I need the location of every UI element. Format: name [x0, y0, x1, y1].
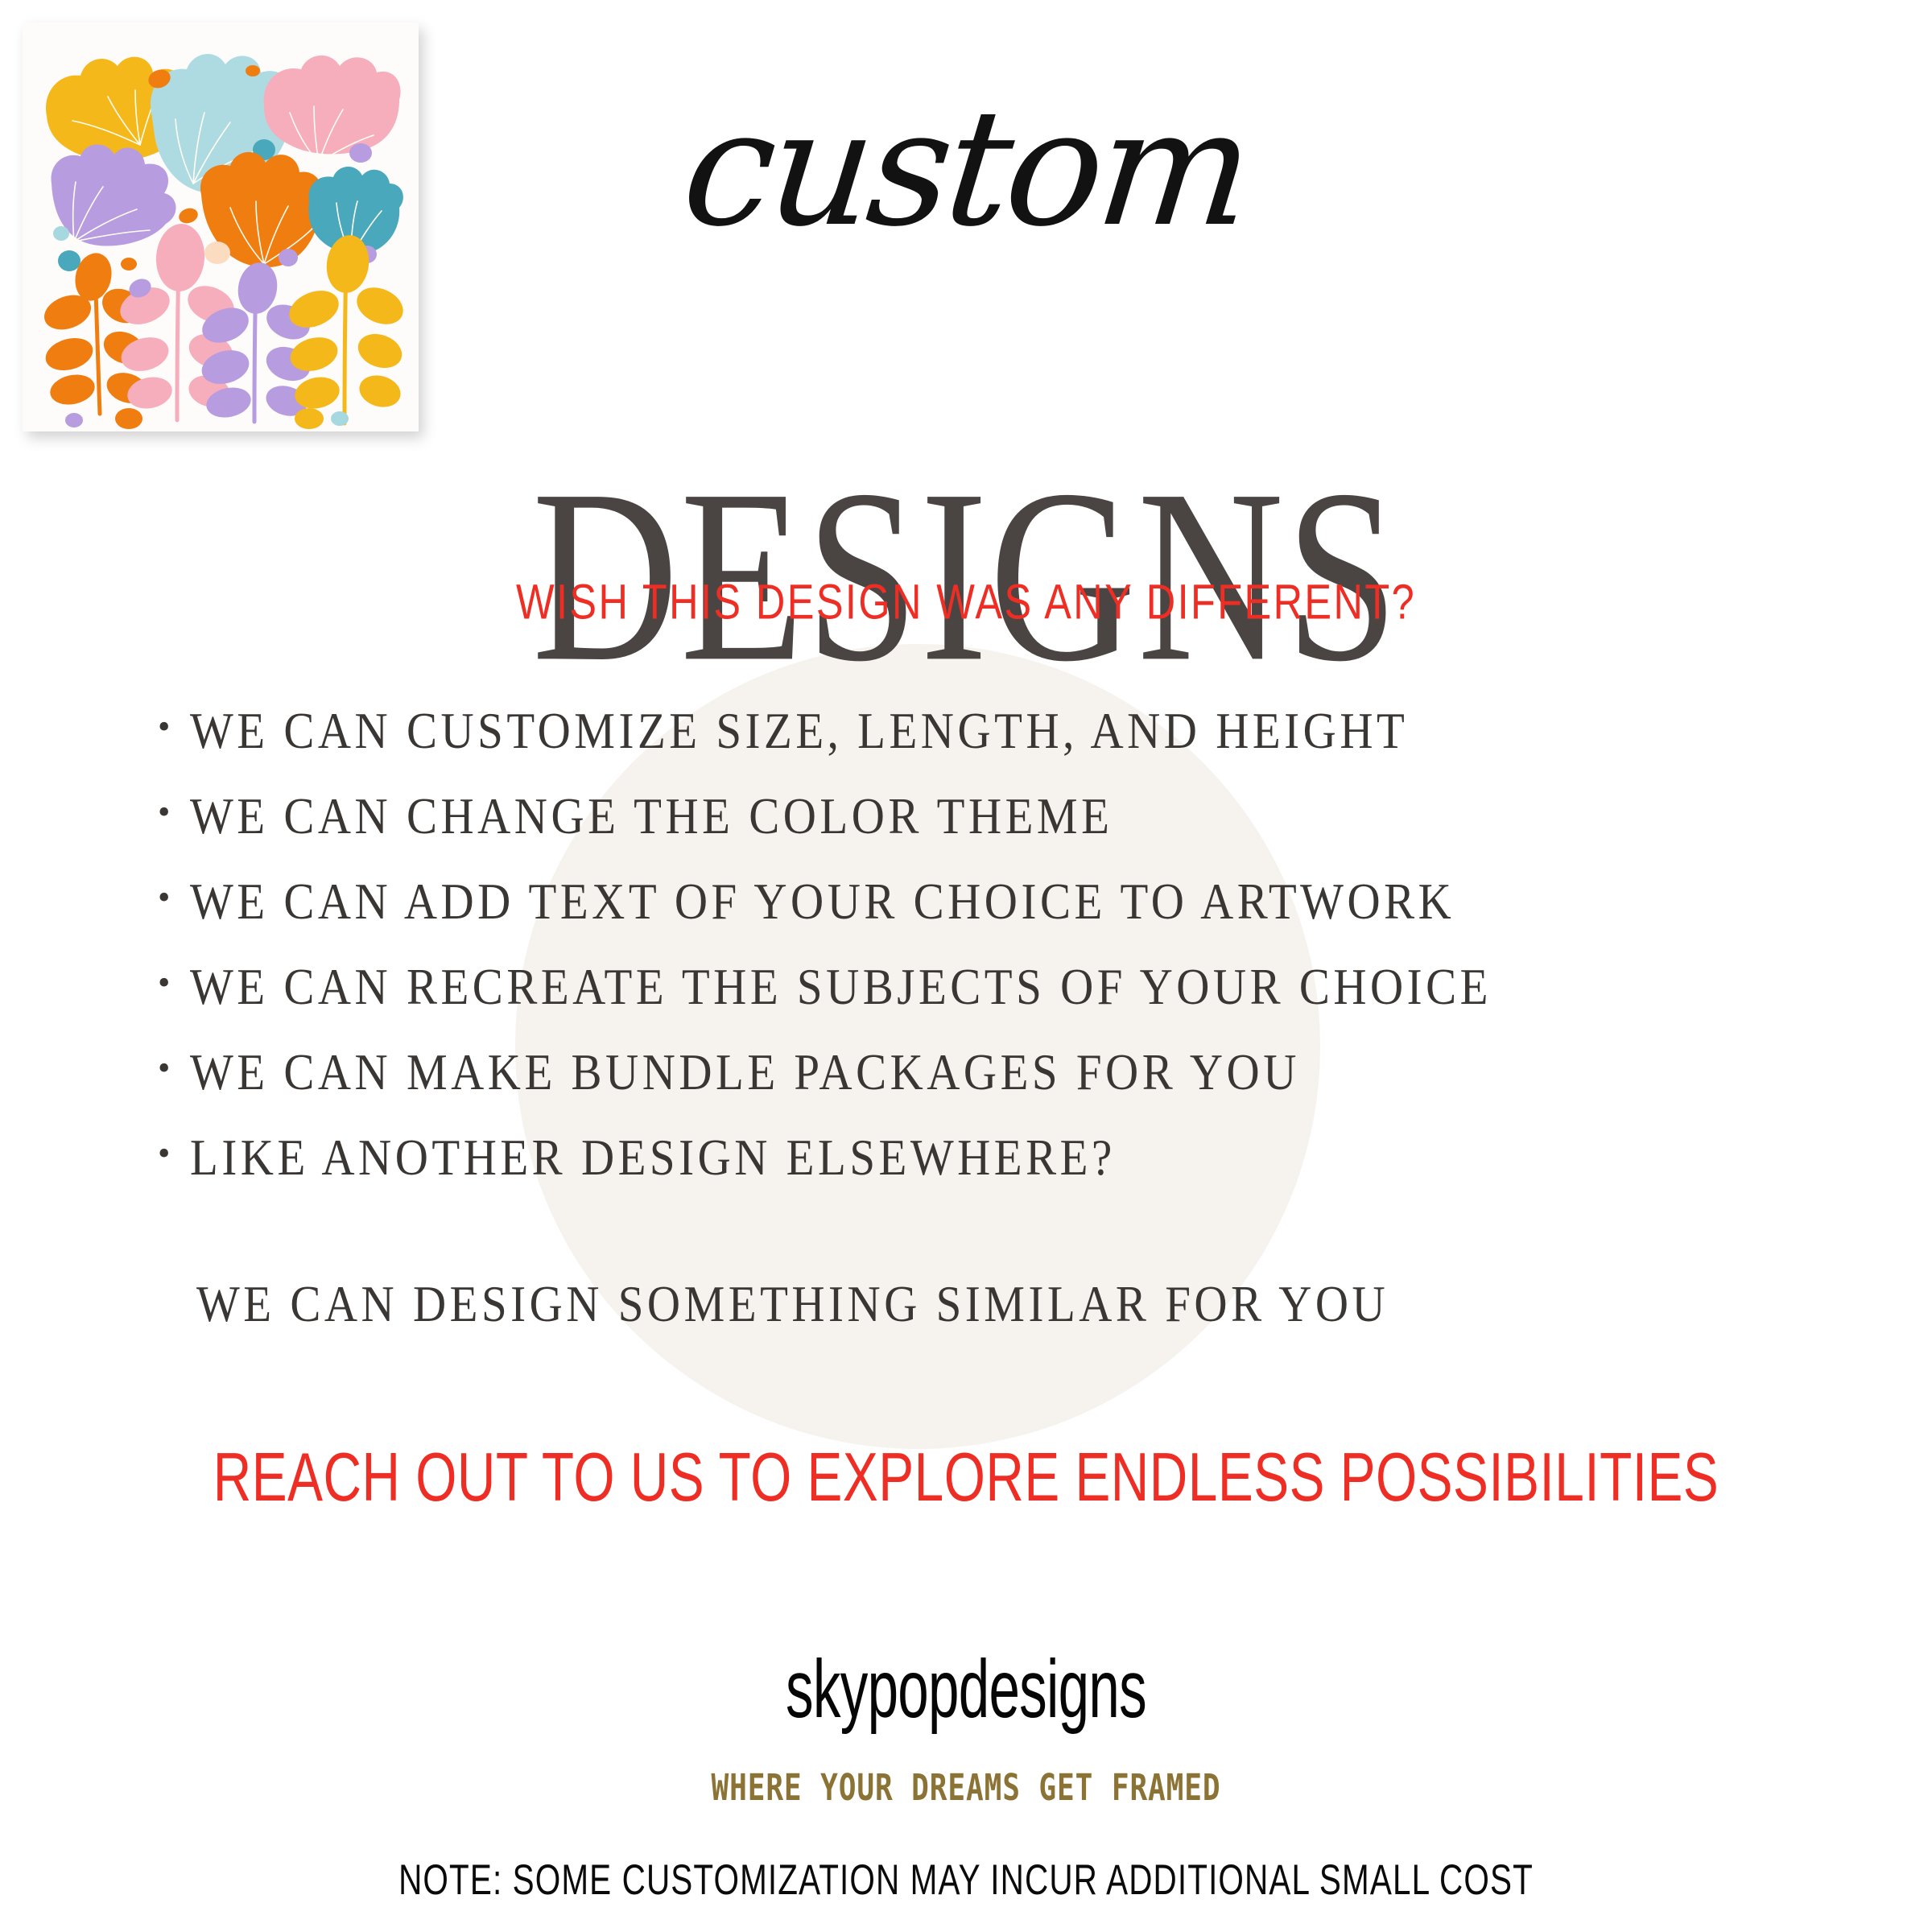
list-continuation-label: WE CAN DESIGN SOMETHING SIMILAR FOR YOU: [196, 1279, 1389, 1331]
bullet-dot-icon: •: [158, 880, 190, 915]
subtitle-question: WISH THIS DESIGN WAS ANY DIFFERENT?: [29, 578, 1903, 627]
list-item-label: WE CAN ADD TEXT OF YOUR CHOICE TO ARTWOR…: [190, 877, 1455, 928]
brand-logo-wordmark: skypopdesigns: [270, 1649, 1662, 1731]
footnote-note: NOTE: SOME CUSTOMIZATION MAY INCUR ADDIT…: [77, 1860, 1855, 1902]
call-to-action-text: REACH OUT TO US TO EXPLORE ENDLESS POSSI…: [58, 1443, 1874, 1511]
brand-tagline: WHERE YOUR DREAMS GET FRAMED: [135, 1769, 1797, 1806]
list-item-label: WE CAN MAKE BUNDLE PACKAGES FOR YOU: [190, 1047, 1300, 1099]
list-item-label: LIKE ANOTHER DESIGN ELSEWHERE?: [190, 1133, 1116, 1184]
bullet-dot-icon: •: [158, 709, 190, 745]
list-item-label: WE CAN CUSTOMIZE SIZE, LENGTH, AND HEIGH…: [190, 706, 1408, 758]
bullet-dot-icon: •: [158, 965, 190, 1001]
list-item-label: WE CAN RECREATE THE SUBJECTS OF YOUR CHO…: [190, 962, 1492, 1013]
feature-list: • WE CAN CUSTOMIZE SIZE, LENGTH, AND HEI…: [158, 708, 1816, 1220]
list-item: • WE CAN ADD TEXT OF YOUR CHOICE TO ARTW…: [158, 879, 1816, 964]
list-item-label: WE CAN CHANGE THE COLOR THEME: [190, 791, 1113, 843]
artwork-thumbnail: [23, 23, 419, 431]
bullet-dot-icon: •: [158, 1051, 190, 1086]
list-item: • WE CAN CHANGE THE COLOR THEME: [158, 794, 1816, 879]
list-item: • WE CAN RECREATE THE SUBJECTS OF YOUR C…: [158, 964, 1816, 1050]
list-item: • WE CAN CUSTOMIZE SIZE, LENGTH, AND HEI…: [158, 708, 1816, 794]
bullet-dot-icon: •: [158, 1136, 190, 1171]
list-item: • LIKE ANOTHER DESIGN ELSEWHERE?: [158, 1135, 1816, 1220]
floral-artwork-icon: [23, 23, 419, 431]
list-item: • WE CAN MAKE BUNDLE PACKAGES FOR YOU: [158, 1050, 1816, 1135]
bullet-dot-icon: •: [158, 795, 190, 830]
